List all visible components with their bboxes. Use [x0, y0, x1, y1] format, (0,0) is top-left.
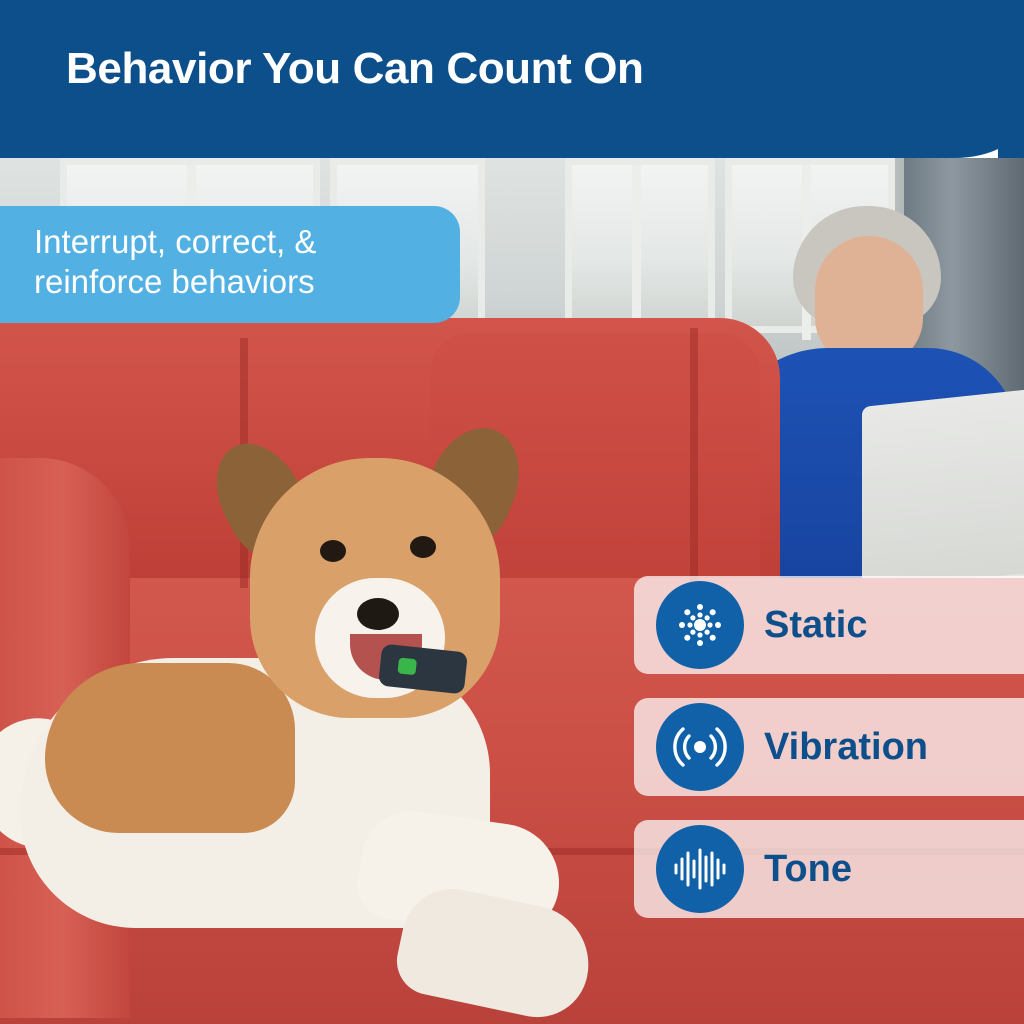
callout-banner: Interrupt, correct, & reinforce behavior… — [0, 206, 460, 323]
feature-list: Static Vibration — [634, 576, 1024, 942]
scene-photo: Interrupt, correct, & reinforce behavior… — [0, 158, 1024, 1024]
feature-label-tone: Tone — [764, 848, 852, 891]
training-collar-device — [378, 644, 468, 695]
dog-fur-patch — [45, 663, 295, 833]
page-title: Behavior You Can Count On — [66, 44, 644, 94]
feature-row-static: Static — [634, 576, 1024, 674]
static-burst-icon — [656, 581, 744, 669]
vibration-waves-icon — [656, 703, 744, 791]
feature-label-vibration: Vibration — [764, 726, 928, 769]
dog-nose — [357, 598, 399, 630]
window-pane — [565, 158, 715, 333]
feature-label-static: Static — [764, 604, 867, 647]
header-corner-notch — [994, 0, 1024, 130]
woman-face — [815, 236, 923, 366]
callout-line-2: reinforce behaviors — [34, 262, 436, 302]
dog-eye-left — [320, 540, 346, 562]
feature-row-tone: Tone — [634, 820, 1024, 918]
product-promo-image: Interrupt, correct, & reinforce behavior… — [0, 0, 1024, 1024]
feature-row-vibration: Vibration — [634, 698, 1024, 796]
callout-line-1: Interrupt, correct, & — [34, 222, 436, 262]
tone-waveform-icon — [656, 825, 744, 913]
dog-eye-right — [410, 536, 436, 558]
